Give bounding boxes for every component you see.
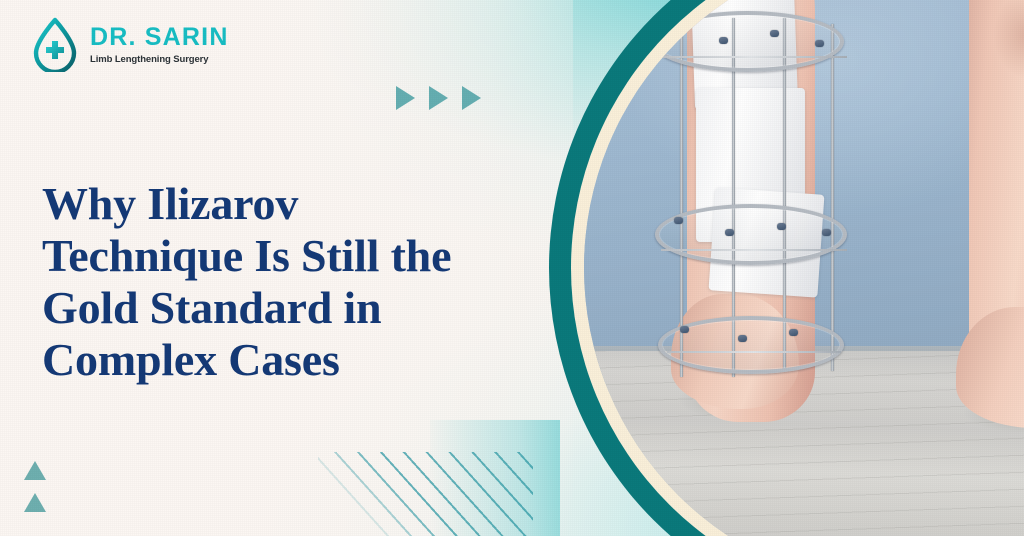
brand-text: DR. SARIN Limb Lengthening Surgery: [90, 24, 229, 64]
fixator-bolt: [719, 37, 728, 44]
brand-logo[interactable]: DR. SARIN Limb Lengthening Surgery: [30, 17, 229, 72]
fixator-pin: [661, 249, 847, 251]
promotional-banner: DR. SARIN Limb Lengthening Surgery Why I…: [0, 0, 1024, 536]
fixator-bolt: [680, 326, 689, 333]
play-triangle-right-icon: [462, 86, 481, 110]
fixator-bolt: [738, 335, 747, 342]
triangle-up-icon: [24, 493, 46, 512]
fixator-bolt: [822, 229, 831, 236]
water-drop-medical-cross-icon: [30, 17, 80, 72]
page-title: Why Ilizarov Technique Is Still the Gold…: [42, 178, 512, 386]
diagonal-hatch-pattern: [318, 452, 533, 536]
decorative-arrow-group: [396, 86, 481, 110]
fixator-bolt: [674, 217, 683, 224]
fixator-pin: [655, 56, 848, 58]
headline-line: Why Ilizarov: [42, 178, 512, 230]
brand-name: DR. SARIN: [90, 24, 229, 50]
fixator-bolt: [789, 329, 798, 336]
fixator-bolt: [815, 40, 824, 47]
play-triangle-right-icon: [429, 86, 448, 110]
fixator-pin: [667, 351, 840, 353]
headline-line: Complex Cases: [42, 334, 512, 386]
headline-line: Technique Is Still the: [42, 230, 512, 282]
circular-photo-composition: [549, 0, 1024, 536]
decorative-triangle-stack: [24, 461, 46, 512]
play-triangle-right-icon: [396, 86, 415, 110]
brand-tagline: Limb Lengthening Surgery: [90, 54, 229, 65]
fixator-bolt: [777, 223, 786, 230]
triangle-up-icon: [24, 461, 46, 480]
fixator-ring-bottom: [658, 316, 844, 374]
hero-photo: [584, 0, 1024, 536]
photo-scene: [584, 0, 1024, 536]
headline-line: Gold Standard in: [42, 282, 512, 334]
fixator-rod: [831, 24, 834, 371]
fixator-ring-middle: [655, 204, 848, 265]
